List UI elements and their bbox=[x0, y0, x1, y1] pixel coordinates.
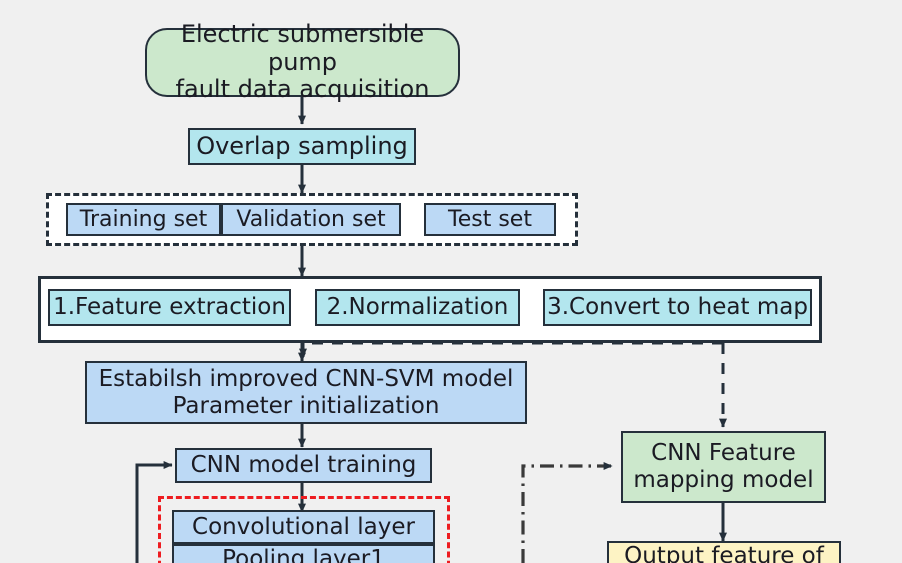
node-convert-to-heat-map[interactable]: 3.Convert to heat map bbox=[543, 289, 812, 326]
flowchart-canvas: Electric submersible pump fault data acq… bbox=[0, 0, 902, 563]
node-training-set[interactable]: Training set bbox=[66, 203, 221, 236]
node-normalization[interactable]: 2.Normalization bbox=[315, 289, 520, 326]
node-convolutional-layer[interactable]: Convolutional layer bbox=[172, 510, 435, 544]
node-test-set[interactable]: Test set bbox=[424, 203, 556, 236]
node-cnn-model-training[interactable]: CNN model training bbox=[175, 448, 432, 483]
node-validation-set[interactable]: Validation set bbox=[221, 203, 401, 236]
node-cnn-feature-mapping[interactable]: CNN Feature mapping model bbox=[621, 431, 826, 503]
node-pooling-layer1[interactable]: Pooling layer1 bbox=[172, 544, 435, 563]
edge-lower-to-feature-mapping bbox=[523, 466, 612, 563]
node-establish-model[interactable]: Estabilsh improved CNN-SVM model Paramet… bbox=[85, 361, 527, 424]
node-data-acquisition[interactable]: Electric submersible pump fault data acq… bbox=[145, 28, 460, 97]
node-feature-extraction[interactable]: 1.Feature extraction bbox=[48, 289, 291, 326]
node-output-feature[interactable]: Output feature of bbox=[607, 541, 841, 563]
node-overlap-sampling[interactable]: Overlap sampling bbox=[188, 128, 416, 165]
